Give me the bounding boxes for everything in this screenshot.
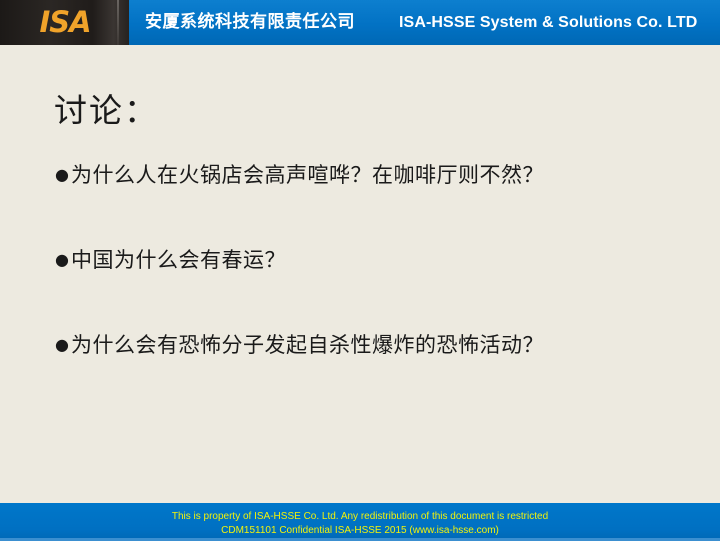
list-item-label: 为什么人在火锅店会高声喧哗？在咖啡厅则不然？ bbox=[71, 160, 675, 190]
list-item: ● 为什么会有恐怖分子发起自杀性爆炸的恐怖活动？ bbox=[55, 330, 675, 360]
page-title: 讨论： bbox=[54, 91, 159, 131]
bullet-point-icon: ● bbox=[55, 330, 71, 360]
slide-footer: This is property of ISA-HSSE Co. Ltd. An… bbox=[0, 503, 720, 541]
list-item: ● 为什么人在火锅店会高声喧哗？在咖啡厅则不然？ bbox=[55, 160, 675, 190]
footer-document-id-line: CDM151101 Confidential ISA-HSSE 2015 (ww… bbox=[0, 524, 720, 538]
footer-copyright-line: This is property of ISA-HSSE Co. Ltd. An… bbox=[0, 510, 720, 524]
company-name-cn: 安厦系统科技有限责任公司 bbox=[145, 10, 355, 34]
slide: ISA 安厦系统科技有限责任公司 ISA-HSSE System & Solut… bbox=[0, 0, 720, 541]
list-item-label: 中国为什么会有春运？ bbox=[71, 245, 675, 275]
slide-body: 讨论： ● 为什么人在火锅店会高声喧哗？在咖啡厅则不然？ ● 中国为什么会有春运… bbox=[0, 45, 720, 503]
company-name-en: ISA-HSSE System & Solutions Co. LTD bbox=[399, 12, 697, 34]
logo-panel: ISA bbox=[0, 0, 129, 45]
bullet-point-icon: ● bbox=[55, 245, 71, 275]
bullet-point-icon: ● bbox=[55, 160, 71, 190]
slide-header: ISA 安厦系统科技有限责任公司 ISA-HSSE System & Solut… bbox=[0, 0, 720, 45]
list-item: ● 中国为什么会有春运？ bbox=[55, 245, 675, 275]
header-title-bar: 安厦系统科技有限责任公司 ISA-HSSE System & Solutions… bbox=[129, 0, 720, 45]
discussion-bullet-list: ● 为什么人在火锅店会高声喧哗？在咖啡厅则不然？ ● 中国为什么会有春运？ ● … bbox=[55, 160, 675, 415]
isa-logo-icon: ISA bbox=[30, 7, 100, 38]
list-item-label: 为什么会有恐怖分子发起自杀性爆炸的恐怖活动？ bbox=[71, 330, 675, 360]
